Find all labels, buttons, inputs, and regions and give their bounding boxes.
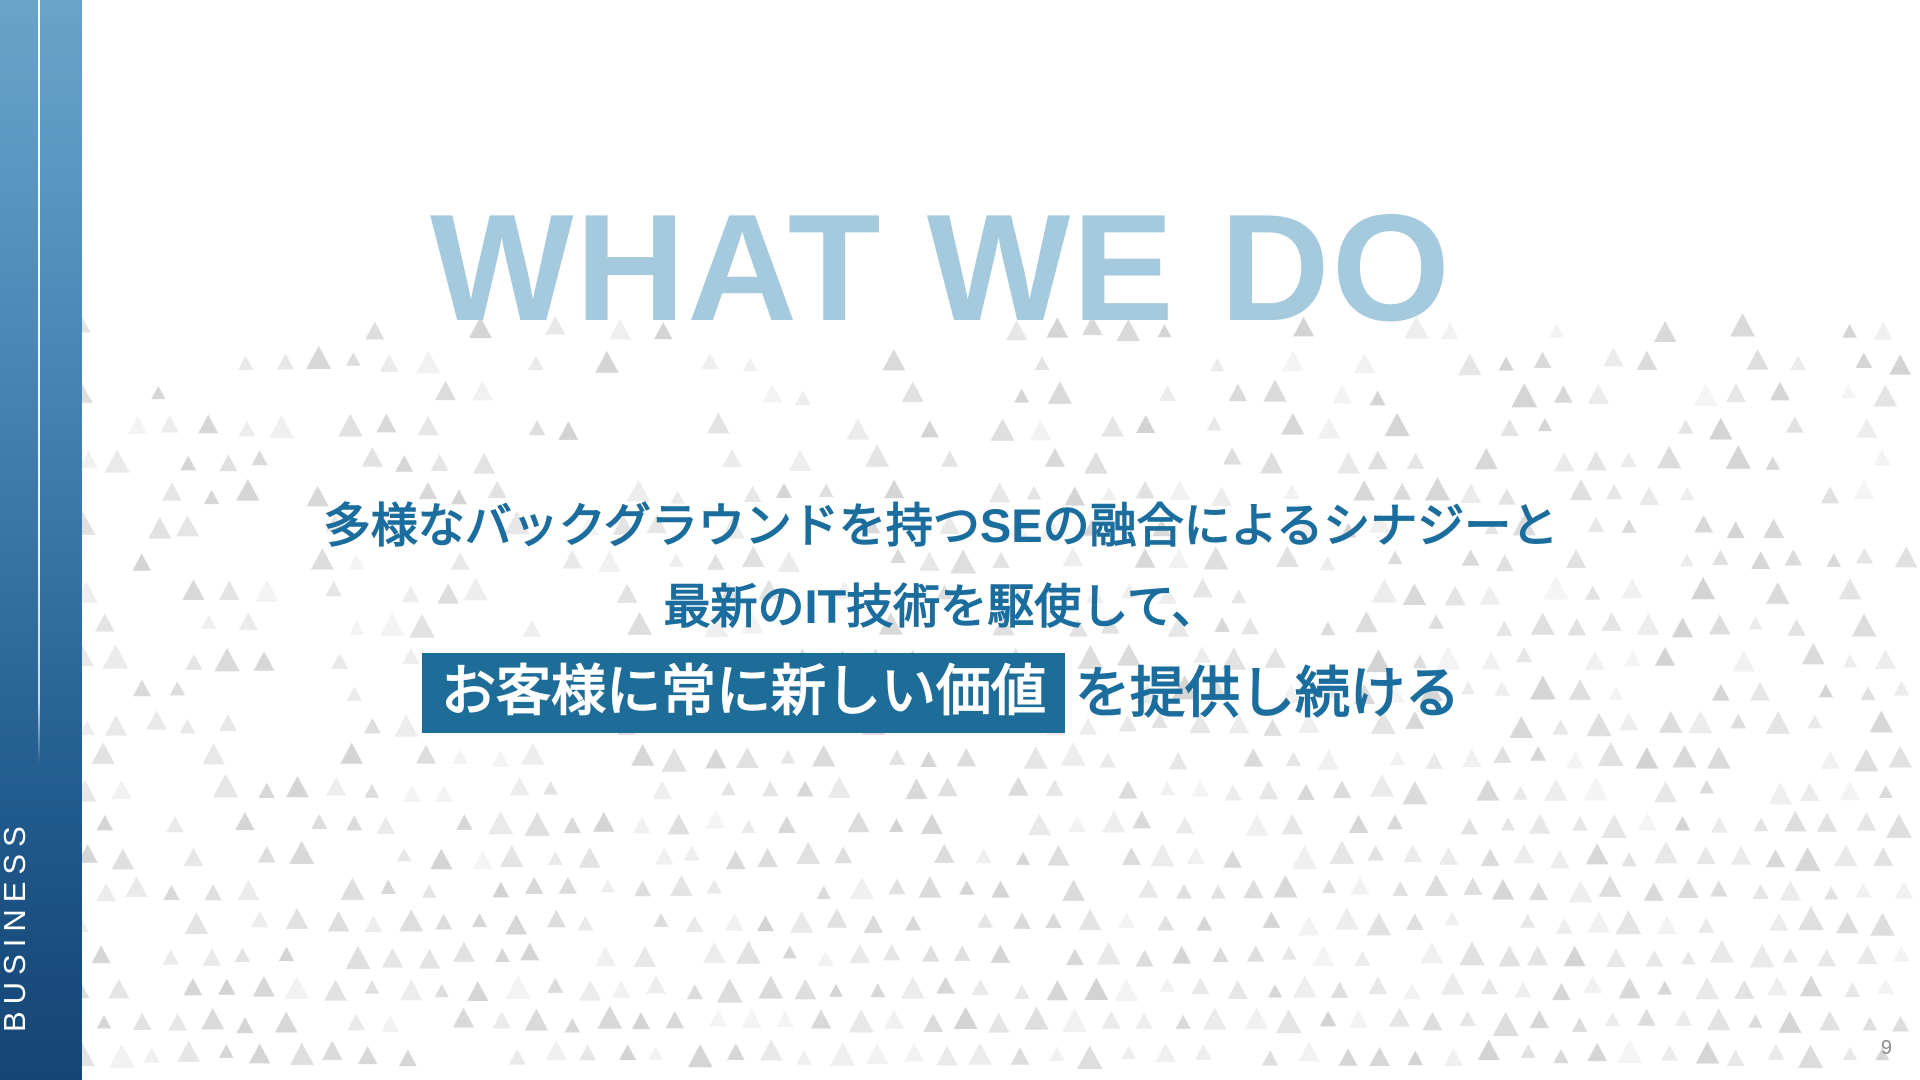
body-line-1: 多様なバックグラウンドを持つSEの融合によるシナジーと (82, 486, 1800, 567)
body-line-3-tail: を提供し続ける (1075, 652, 1460, 735)
sidebar-section-label-text: BUSINESS (0, 819, 30, 1032)
body-copy: 多様なバックグラウンドを持つSEの融合によるシナジーと 最新のIT技術を駆使して… (82, 486, 1920, 734)
body-line-3: お客様に常に新しい価値を提供し続ける (82, 648, 1800, 735)
left-sidebar: BUSINESS (0, 0, 82, 1080)
slide-content: WHAT WE DO 多様なバックグラウンドを持つSEの融合によるシナジーと 最… (82, 0, 1920, 1080)
highlight-badge: お客様に常に新しい価値 (422, 653, 1065, 733)
page-number: 9 (1881, 1038, 1892, 1058)
slide-canvas: BUSINESS WHAT WE DO 多様なバックグラウンドを持つSEの融合に… (0, 0, 1920, 1080)
page-title: WHAT WE DO (82, 192, 1920, 344)
sidebar-section-label: BUSINESS (0, 0, 82, 1080)
body-line-2: 最新のIT技術を駆使して、 (82, 567, 1800, 648)
